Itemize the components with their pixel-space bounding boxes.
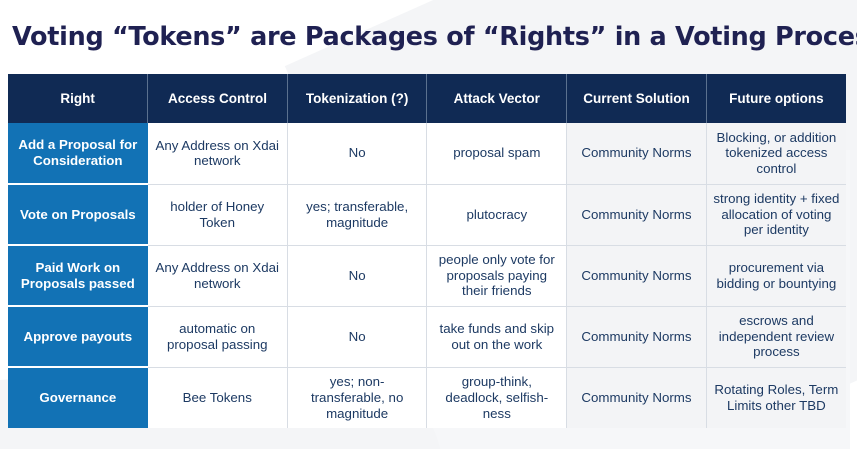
cell-tokenization: No [287, 306, 427, 367]
cell-current-solution: Community Norms [567, 184, 707, 245]
cell-future-options: strong identity + fixed allocation of vo… [706, 184, 846, 245]
table-header: Right Access Control Tokenization (?) At… [8, 74, 846, 123]
cell-future-options: escrows and independent review process [706, 306, 846, 367]
cell-tokenization: No [287, 123, 427, 184]
column-header-current-solution: Current Solution [567, 74, 707, 123]
cell-tokenization: yes; transferable, magnitude [287, 184, 427, 245]
table-row: Approve payouts automatic on proposal pa… [8, 306, 846, 367]
column-header-right: Right [8, 74, 148, 123]
cell-right: Add a Proposal for Consideration [8, 123, 148, 184]
cell-future-options: Rotating Roles, Term Limits other TBD [706, 367, 846, 428]
table-row: Add a Proposal for Consideration Any Add… [8, 123, 846, 184]
cell-attack-vector: proposal spam [427, 123, 567, 184]
cell-tokenization: No [287, 245, 427, 306]
cell-access-control: Any Address on Xdai network [148, 245, 288, 306]
rights-table-container: Right Access Control Tokenization (?) At… [8, 74, 846, 428]
column-header-access-control: Access Control [148, 74, 288, 123]
cell-future-options: procurement via bidding or bountying [706, 245, 846, 306]
voting-rights-table: Right Access Control Tokenization (?) At… [8, 74, 846, 428]
cell-attack-vector: take funds and skip out on the work [427, 306, 567, 367]
table-header-row: Right Access Control Tokenization (?) At… [8, 74, 846, 123]
cell-access-control: Any Address on Xdai network [148, 123, 288, 184]
table-row: Vote on Proposals holder of Honey Token … [8, 184, 846, 245]
cell-future-options: Blocking, or addition tokenized access c… [706, 123, 846, 184]
cell-current-solution: Community Norms [567, 123, 707, 184]
cell-right: Paid Work on Proposals passed [8, 245, 148, 306]
cell-attack-vector: people only vote for proposals paying th… [427, 245, 567, 306]
table-row: Governance Bee Tokens yes; non-transfera… [8, 367, 846, 428]
cell-access-control: automatic on proposal passing [148, 306, 288, 367]
cell-current-solution: Community Norms [567, 306, 707, 367]
cell-current-solution: Community Norms [567, 367, 707, 428]
cell-attack-vector: plutocracy [427, 184, 567, 245]
cell-current-solution: Community Norms [567, 245, 707, 306]
column-header-future-options: Future options [706, 74, 846, 123]
cell-right: Governance [8, 367, 148, 428]
cell-right: Vote on Proposals [8, 184, 148, 245]
column-header-tokenization: Tokenization (?) [287, 74, 427, 123]
cell-right: Approve payouts [8, 306, 148, 367]
table-row: Paid Work on Proposals passed Any Addres… [8, 245, 846, 306]
cell-tokenization: yes; non-transferable, no magnitude [287, 367, 427, 428]
table-body: Add a Proposal for Consideration Any Add… [8, 123, 846, 428]
page-title: Voting “Tokens” are Packages of “Rights”… [12, 22, 845, 52]
cell-attack-vector: group-think, deadlock, selfish-ness [427, 367, 567, 428]
cell-access-control: Bee Tokens [148, 367, 288, 428]
cell-access-control: holder of Honey Token [148, 184, 288, 245]
column-header-attack-vector: Attack Vector [427, 74, 567, 123]
